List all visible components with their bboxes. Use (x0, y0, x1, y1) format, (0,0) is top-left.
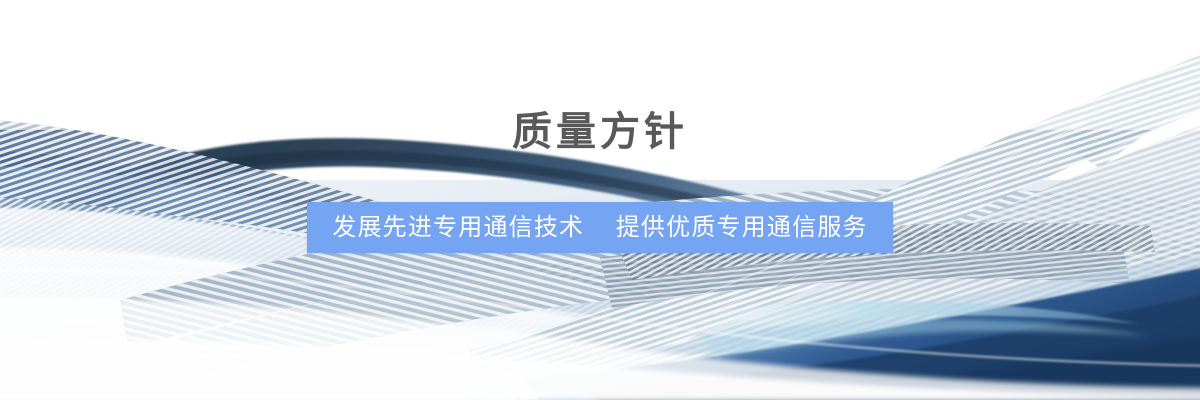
slogan-text: 发展先进专用通信技术 提供优质专用通信服务 (332, 216, 867, 240)
quality-policy-banner: 质量方针 发展先进专用通信技术 提供优质专用通信服务 (0, 0, 1200, 400)
slogan-bar: 发展先进专用通信技术 提供优质专用通信服务 (307, 202, 893, 253)
page-title: 质量方针 (0, 108, 1200, 156)
